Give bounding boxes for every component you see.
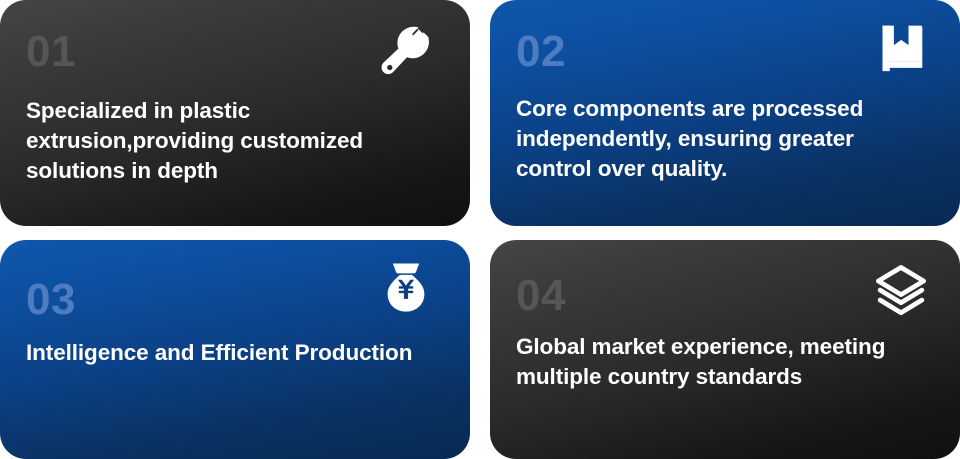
layers-stack-icon <box>872 262 930 320</box>
card-text-04: Global market experience, meeting multip… <box>516 332 934 392</box>
feature-card-04[interactable]: 04 Global market experience, meeting mul… <box>490 240 960 459</box>
book-bookmark-icon <box>876 24 928 76</box>
card-number-02: 02 <box>516 30 934 74</box>
card-text-03: Intelligence and Efficient Production <box>26 338 444 368</box>
feature-card-02[interactable]: 02 Core components are processed indepen… <box>490 0 960 226</box>
money-bag-yen-icon <box>378 260 434 316</box>
feature-card-01[interactable]: 01 Specialized in plastic extrusion,prov… <box>0 0 470 226</box>
feature-card-03[interactable]: 03 Intelligence and Efficient Production <box>0 240 470 459</box>
wrench-icon <box>378 24 436 82</box>
card-text-01: Specialized in plastic extrusion,providi… <box>26 96 444 186</box>
feature-cards-grid: 01 Specialized in plastic extrusion,prov… <box>0 0 960 459</box>
card-text-02: Core components are processed independen… <box>516 94 934 184</box>
